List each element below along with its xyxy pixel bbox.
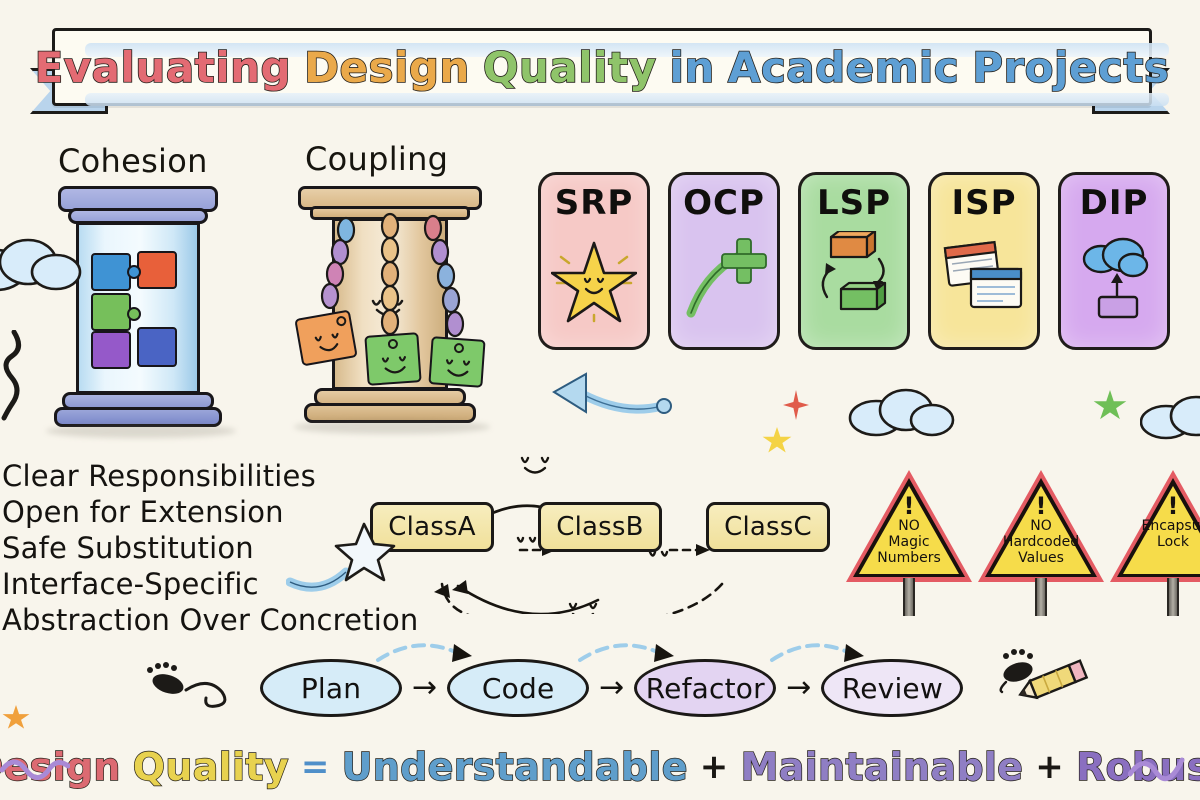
sign-post <box>1167 578 1179 616</box>
title-banner: Evaluating Design Quality in Academic Pr… <box>30 22 1170 122</box>
solid-card-srp[interactable]: SRP <box>538 172 650 350</box>
coupling-label: Coupling <box>305 140 448 178</box>
class-node-c[interactable]: ClassC <box>706 502 830 552</box>
puzzle-piece-blue <box>91 253 131 291</box>
swap-boxes-icon <box>811 231 897 323</box>
sign-text-2: NO Hardcoded Values <box>978 518 1104 566</box>
cloud-mid-icon <box>848 382 956 444</box>
solid-card-srp-label: SRP <box>555 183 634 223</box>
equation-operator-equals: = <box>301 747 330 787</box>
page-title: Evaluating Design Quality in Academic Pr… <box>76 36 1128 98</box>
solid-card-ocp[interactable]: OCP <box>668 172 780 350</box>
green-star-icon <box>1093 390 1127 422</box>
black-squiggle-icon <box>0 330 34 422</box>
purple-squiggle-icon <box>0 752 70 782</box>
sign-line-3: Lock <box>1110 534 1200 550</box>
puzzle-knob-a <box>127 265 141 279</box>
coupling-pillar-illustration <box>290 186 490 436</box>
sign-line-3: Values <box>978 550 1104 566</box>
pencil-icon <box>1014 658 1094 706</box>
sign-text-1: NO Magic Numbers <box>846 518 972 566</box>
solid-card-dip-label: DIP <box>1080 183 1149 223</box>
puzzle-piece-orange <box>137 251 177 289</box>
exclamation-icon: ! <box>1036 494 1047 518</box>
coupling-tag-orange <box>294 310 357 367</box>
class-relationship-diagram: ClassA ClassB ClassC <box>370 480 830 610</box>
corner-squiggle-icon <box>1168 160 1200 280</box>
pillar-shaft <box>76 222 200 394</box>
equation-operator-plus-2: + <box>1035 747 1064 787</box>
blue-shooting-star-icon <box>286 522 396 600</box>
warning-signs-group: ! NO Magic Numbers ! NO Hardcoded Values <box>846 470 1200 616</box>
sign-post <box>903 578 915 616</box>
sign-line-2: Hardcoded <box>978 534 1104 550</box>
puzzle-piece-indigo <box>137 327 177 367</box>
coupling-tag-green-mid <box>364 332 421 386</box>
solid-card-ocp-label: OCP <box>683 183 765 223</box>
cloud-abstraction-icon <box>1071 231 1157 323</box>
footprint-left-icon <box>142 662 252 710</box>
infographic-canvas: Evaluating Design Quality in Academic Pr… <box>0 0 1200 800</box>
solid-card-lsp[interactable]: LSP <box>798 172 910 350</box>
sign-text-3: Encapsul Lock <box>1110 518 1200 550</box>
sign-line-2: Magic <box>846 534 972 550</box>
pillar-shadow <box>46 424 236 438</box>
purple-squiggle-right-icon <box>1128 748 1200 784</box>
sign-line-1: NO <box>978 518 1104 534</box>
cloud-left-icon <box>0 232 86 310</box>
exclamation-icon: ! <box>904 494 915 518</box>
red-sparkle-icon <box>783 390 809 420</box>
solid-card-isp-label: ISP <box>951 183 1016 223</box>
title-word-evaluating: Evaluating <box>35 43 292 92</box>
exclamation-icon: ! <box>1168 494 1179 518</box>
puzzle-piece-green <box>91 293 131 331</box>
warning-sign-magic-numbers: ! NO Magic Numbers <box>846 470 972 616</box>
workflow-arrow-3: → <box>786 673 811 703</box>
sign-line-2: Encapsul <box>1110 518 1200 534</box>
title-word-in: in <box>670 43 715 92</box>
title-word-projects: Projects <box>972 43 1169 92</box>
title-word-academic: Academic <box>728 43 959 92</box>
class-node-b[interactable]: ClassB <box>538 502 662 552</box>
solid-card-dip[interactable]: DIP <box>1058 172 1170 350</box>
workflow-arrow-1: → <box>412 673 437 703</box>
warning-sign-encapsulation: ! Encapsul Lock <box>1110 470 1200 616</box>
equation-term-maintainable: Maintainable <box>741 745 1024 789</box>
solid-card-isp[interactable]: ISP <box>928 172 1040 350</box>
sign-line-1: NO <box>846 518 972 534</box>
split-cards-icon <box>941 231 1027 323</box>
title-word-design: Design <box>304 43 470 92</box>
title-word-quality: Quality <box>483 43 657 92</box>
coupling-tag-green-right <box>428 336 485 388</box>
star-icon <box>551 231 637 323</box>
workflow-dashed-arcs <box>260 620 960 672</box>
warning-sign-hardcoded-values: ! NO Hardcoded Values <box>978 470 1104 616</box>
summary-equation: Design Quality = Understandable + Mainta… <box>0 740 1200 794</box>
equation-operator-plus-1: + <box>700 747 729 787</box>
solid-principles-row: SRP OCP <box>538 172 1170 352</box>
plus-arrow-icon <box>681 231 767 323</box>
blue-curved-arrow-icon <box>552 368 672 424</box>
workflow-arrow-2: → <box>599 673 624 703</box>
puzzle-knob-b <box>127 307 141 321</box>
cohesion-label: Cohesion <box>58 142 208 180</box>
orange-star-icon <box>2 705 30 731</box>
cloud-right-icon <box>1140 390 1200 446</box>
coupling-shadow <box>294 420 490 434</box>
puzzle-piece-purple <box>91 331 131 369</box>
equation-term-quality: Quality <box>133 745 289 789</box>
equation-term-understandable: Understandable <box>342 745 688 789</box>
solid-card-lsp-label: LSP <box>817 183 891 223</box>
cohesion-pillar-illustration <box>52 186 224 436</box>
sign-post <box>1035 578 1047 616</box>
principle-item-1: Clear Responsibilities <box>2 458 419 494</box>
sign-line-3: Numbers <box>846 550 972 566</box>
